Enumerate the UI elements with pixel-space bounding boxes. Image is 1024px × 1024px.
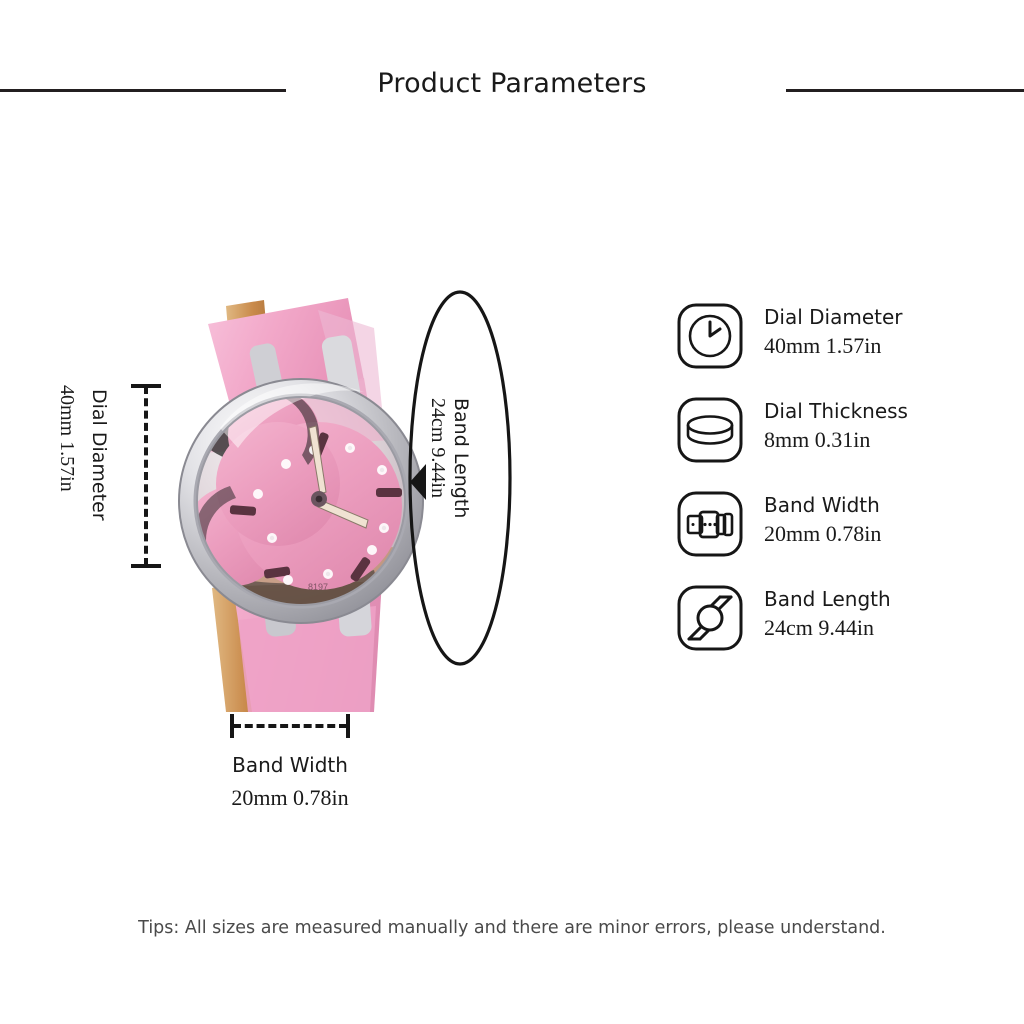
spec-row-band-width: Band Width 20mm 0.78in (676, 490, 1006, 584)
dimension-cap-bottom (131, 564, 161, 568)
dial-diameter-label: Dial Diameter (89, 389, 108, 521)
band-length-label: Band Length (451, 398, 470, 518)
spec-name: Band Length (764, 586, 1004, 612)
disc-thickness-icon (676, 396, 744, 464)
dial-diameter-dimension-label: Dial Diameter 40mm 1.57in (48, 383, 122, 567)
spec-text: Dial Thickness 8mm 0.31in (764, 398, 1004, 455)
page-header: Product Parameters (0, 68, 1024, 114)
spec-name: Band Width (764, 492, 1004, 518)
footer-tip: Tips: All sizes are measured manually an… (0, 918, 1024, 938)
spec-name: Dial Diameter (764, 304, 1004, 330)
buckle-icon (676, 490, 744, 558)
spec-name: Dial Thickness (764, 398, 1004, 424)
band-width-label: Band Width (150, 752, 430, 779)
band-length-dimension-label: Band Length 24cm 9.44in (428, 398, 508, 528)
dial-diameter-value: 40mm 1.57in (57, 385, 77, 492)
spec-value: 20mm 0.78in (764, 520, 1004, 549)
spec-text: Band Length 24cm 9.44in (764, 586, 1004, 643)
dimension-line (144, 386, 148, 566)
watch-dial-icon (676, 302, 744, 370)
spec-list: Dial Diameter 40mm 1.57in Dial Thickness… (676, 302, 1006, 678)
band-width-dimension-line (228, 714, 352, 740)
spec-value: 40mm 1.57in (764, 332, 1004, 361)
band-width-value: 20mm 0.78in (150, 783, 430, 813)
spec-value: 24cm 9.44in (764, 614, 1004, 643)
svg-text:8197: 8197 (308, 582, 328, 592)
spec-row-dial-thickness: Dial Thickness 8mm 0.31in (676, 396, 1006, 490)
dimension-line (233, 724, 347, 728)
spec-value: 8mm 0.31in (764, 426, 1004, 455)
product-photo: 8197 (168, 288, 424, 712)
spec-row-band-length: Band Length 24cm 9.44in (676, 584, 1006, 678)
watch-strap-icon (676, 584, 744, 652)
spec-text: Dial Diameter 40mm 1.57in (764, 304, 1004, 361)
dial-diameter-dimension-line (128, 380, 162, 572)
spec-text: Band Width 20mm 0.78in (764, 492, 1004, 549)
band-length-value: 24cm 9.44in (428, 398, 448, 498)
band-width-dimension-label: Band Width 20mm 0.78in (150, 752, 430, 813)
spec-row-dial-diameter: Dial Diameter 40mm 1.57in (676, 302, 1006, 396)
dimension-cap-right (346, 714, 350, 738)
page-title: Product Parameters (0, 68, 1024, 99)
